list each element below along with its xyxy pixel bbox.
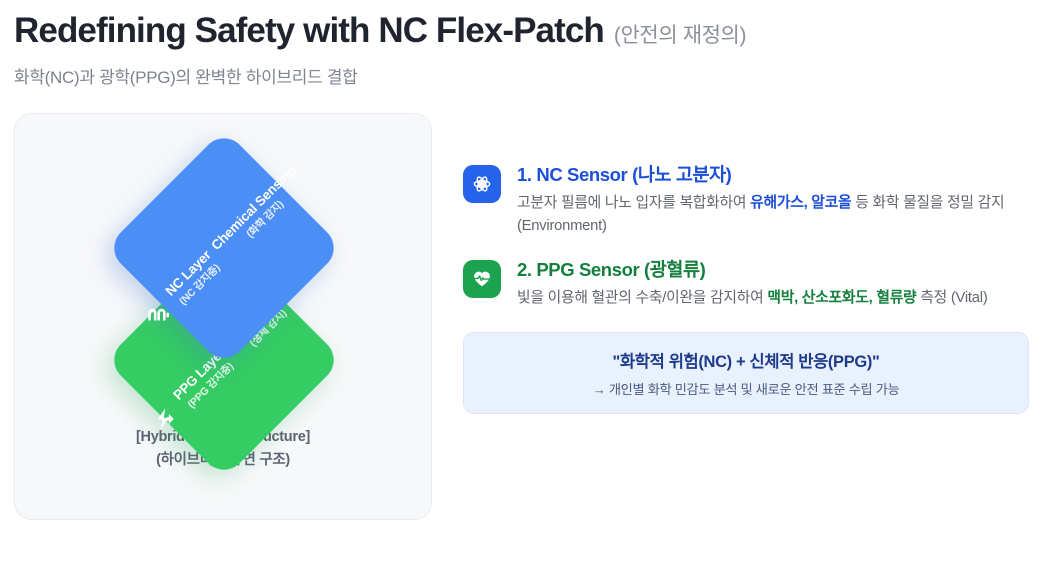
nc-sensor-title: 1. NC Sensor (나노 고분자) [517,163,1023,188]
nc-desc-part1: 고분자 필름에 나노 입자를 복합화하여 [517,195,750,211]
atom-icon [472,174,492,194]
summary-callout-main: "화학적 위험(NC) + 신체적 반응(PPG)" [613,348,880,372]
nc-layer-func-col: Chemical Sensing (화학 감지) [208,161,310,263]
ppg-desc-highlight: 맥박, 산소포화도, 혈류량 [767,290,916,306]
page-root: Redefining Safety with NC Flex-Patch (안전… [0,0,1052,574]
content-row: NC Layer (NC 감지층) Chemical Sensing (화학 감… [14,113,1038,520]
page-title-korean: (안전의 재정의) [614,19,746,49]
summary-callout: "화학적 위험(NC) + 신체적 반응(PPG)" → 개인별 화학 민감도 … [463,332,1029,414]
page-header: Redefining Safety with NC Flex-Patch (안전… [14,10,1038,88]
nc-layer-texts: NC Layer (NC 감지층) Chemical Sensing (화학 감… [163,161,311,309]
heart-pulse-icon [472,269,492,289]
nc-desc-highlight: 유해가스, 알코올 [750,195,851,211]
ppg-sensor-body: 2. PPG Sensor (광혈류) 빛을 이용해 혈관의 수축/이완을 감지… [517,258,1023,310]
ppg-desc-part1: 빛을 이용해 혈관의 수축/이완을 감지하여 [517,290,767,306]
feature-item-ppg-sensor[interactable]: 2. PPG Sensor (광혈류) 빛을 이용해 혈관의 수축/이완을 감지… [463,258,1023,310]
page-title-main: Redefining Safety with NC Flex-Patch [14,10,604,53]
nc-sensor-badge [463,165,501,203]
activity-bolt-icon [153,405,179,431]
nc-sensor-description: 고분자 필름에 나노 입자를 복합화하여 유해가스, 알코올 등 화학 물질을 … [517,192,1023,239]
nc-sensor-body: 1. NC Sensor (나노 고분자) 고분자 필름에 나노 입자를 복합화… [517,163,1023,239]
ppg-sensor-title: 2. PPG Sensor (광혈류) [517,258,1023,283]
feature-list: 1. NC Sensor (나노 고분자) 고분자 필름에 나노 입자를 복합화… [463,113,1023,414]
summary-callout-sub: → 개인별 화학 민감도 분석 및 새로운 안전 표준 수립 가능 [593,379,900,398]
ppg-desc-part2: 측정 (Vital) [916,290,987,306]
feature-item-nc-sensor[interactable]: 1. NC Sensor (나노 고분자) 고분자 필름에 나노 입자를 복합화… [463,163,1023,239]
layer-stack: NC Layer (NC 감지층) Chemical Sensing (화학 감… [15,114,433,454]
nc-layer-name-col: NC Layer (NC 감지층) [163,246,226,309]
ppg-sensor-description: 빛을 이용해 혈관의 수축/이완을 감지하여 맥박, 산소포화도, 혈류량 측정… [517,287,1023,310]
page-title: Redefining Safety with NC Flex-Patch (안전… [14,10,1038,53]
ppg-sensor-badge [463,260,501,298]
page-subtitle: 화학(NC)과 광학(PPG)의 완벽한 하이브리드 결합 [14,63,1038,88]
hybrid-structure-card: NC Layer (NC 감지층) Chemical Sensing (화학 감… [14,113,432,520]
waves-icon [145,301,171,327]
